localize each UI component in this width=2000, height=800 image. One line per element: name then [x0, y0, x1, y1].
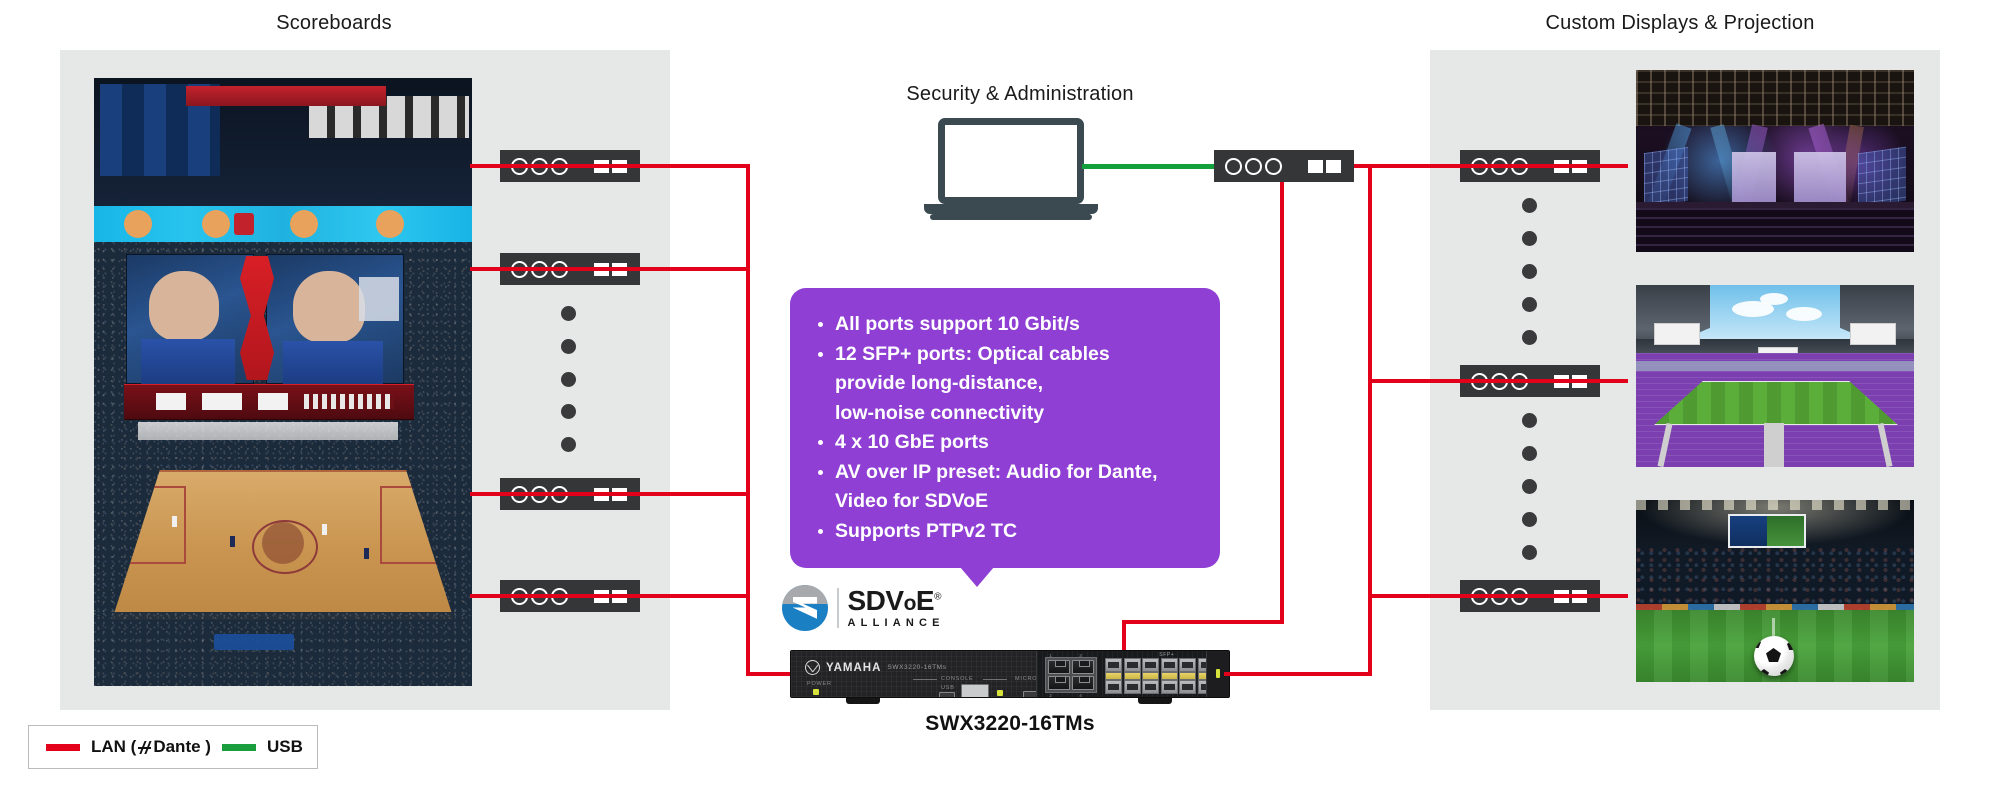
sfp-row-amber	[1105, 672, 1215, 680]
laptop-screen	[938, 118, 1084, 204]
cable-right-3	[1368, 594, 1628, 598]
node-circle-icon	[1245, 158, 1262, 175]
switch-foot	[846, 698, 880, 704]
switch-right-panel: 1 3 2 4 SFP+	[1036, 651, 1229, 697]
soccer-scoreboard	[1728, 514, 1806, 548]
center-node-usb[interactable]	[1214, 150, 1354, 182]
node-circles	[1225, 158, 1282, 175]
usb-label: USB	[941, 685, 955, 691]
feature-bullet: Supports PTPv2 TC	[816, 517, 1194, 547]
sfp-indicator	[1161, 672, 1178, 680]
cable-usb	[1082, 164, 1222, 169]
right-ellipsis-dot	[1522, 231, 1537, 246]
feature-bullet: 12 SFP+ ports: Optical cables provide lo…	[816, 340, 1194, 429]
sdvoe-alliance-logo: SDVoE® ALLIANCE	[782, 585, 945, 631]
right-ellipsis-dot	[1522, 297, 1537, 312]
switch-left-panel: YAMAHA SWX3220-16TMs POWER CONSOLE USB M…	[791, 651, 1036, 697]
cable-left-3	[470, 492, 750, 496]
yamaha-switch[interactable]: YAMAHA SWX3220-16TMs POWER CONSOLE USB M…	[790, 650, 1230, 698]
sdvoe-o: o	[904, 592, 916, 615]
sfp-row-bottom[interactable]	[1105, 680, 1215, 694]
yamaha-logo-icon	[805, 660, 820, 675]
legend: LAN ( Dante ) USB	[28, 725, 318, 769]
right-ellipsis-dot	[1522, 545, 1537, 560]
copper-10gbe-ports[interactable]	[1045, 657, 1097, 693]
sfp-port[interactable]	[1124, 658, 1141, 672]
left-ellipsis-dot	[561, 437, 576, 452]
sdvoe-subtitle: ALLIANCE	[848, 618, 945, 629]
feature-bullet: AV over IP preset: Audio for Dante, Vide…	[816, 458, 1194, 517]
sdvoe-name: SDV	[848, 585, 904, 616]
console-label: CONSOLE	[941, 676, 974, 682]
left-ellipsis-dot	[561, 404, 576, 419]
switch-foot	[1138, 698, 1172, 704]
cable-center-to-switch-h	[1122, 620, 1284, 624]
legend-swatch-usb	[222, 744, 256, 751]
diagram-canvas: Scoreboards Security & Administration Cu…	[0, 0, 2000, 800]
legend-lan-prefix: LAN (	[91, 737, 136, 757]
sfp-port[interactable]	[1161, 680, 1178, 694]
feature-bullet: 4 x 10 GbE ports	[816, 428, 1194, 458]
copper-port[interactable]	[1048, 660, 1070, 674]
cable-left-trunk	[746, 164, 750, 676]
usb-port[interactable]	[939, 692, 955, 698]
switch-label: SWX3220-16TMs	[790, 712, 1230, 736]
sfp-port[interactable]	[1142, 658, 1159, 672]
node-square-icon	[1308, 160, 1323, 173]
copper-port[interactable]	[1072, 660, 1094, 674]
sfp-port[interactable]	[1105, 658, 1122, 672]
sfp-row-top[interactable]	[1105, 658, 1215, 672]
left-ellipsis-dot	[561, 306, 576, 321]
node-square-icon	[1326, 160, 1341, 173]
right-ellipsis-dot	[1522, 446, 1537, 461]
sdvoe-wordmark: SDVoE® ALLIANCE	[848, 587, 945, 629]
left-ellipsis-dot	[561, 372, 576, 387]
cable-left-4	[470, 594, 750, 598]
cable-center-down	[1280, 182, 1284, 624]
feature-bullet: All ports support 10 Gbit/s	[816, 310, 1194, 340]
switch-model-silkscreen: SWX3220-16TMs	[887, 664, 946, 671]
right-ellipsis-dot	[1522, 198, 1537, 213]
power-led	[813, 689, 819, 695]
sfp-port[interactable]	[1105, 680, 1122, 694]
right-ellipsis-dot	[1522, 264, 1537, 279]
cable-right-2	[1368, 379, 1628, 383]
feature-list: All ports support 10 Gbit/s 12 SFP+ port…	[816, 310, 1194, 546]
yamaha-wordmark: YAMAHA	[826, 662, 881, 674]
soccer-photo	[1636, 500, 1914, 682]
heading-custom-displays: Custom Displays & Projection	[1360, 12, 2000, 35]
status-led	[997, 690, 1003, 696]
concert-stage-photo	[1636, 70, 1914, 252]
stadium-photo	[1636, 285, 1914, 467]
cable-right-trunk	[1368, 164, 1372, 598]
sfp-port[interactable]	[1142, 680, 1159, 694]
logo-divider	[837, 588, 839, 628]
laptop-base-lip	[930, 214, 1092, 220]
arena-scoreboard-photo	[94, 78, 472, 686]
cable-left-to-switch	[746, 672, 796, 676]
legend-label-lan: LAN ( Dante )	[91, 737, 211, 757]
sdvoe-mark-icon	[782, 585, 828, 631]
sdvoe-e: E	[916, 585, 934, 616]
sfp-indicator	[1105, 672, 1122, 680]
copper-port[interactable]	[1072, 676, 1094, 690]
node-squares	[1308, 160, 1341, 173]
feature-callout: All ports support 10 Gbit/s 12 SFP+ port…	[790, 288, 1220, 568]
soccer-ball	[1754, 636, 1794, 676]
sfp-port[interactable]	[1179, 658, 1196, 672]
right-ellipsis-dot	[1522, 413, 1537, 428]
right-ellipsis-dot	[1522, 330, 1537, 345]
sfp-indicator	[1179, 672, 1196, 680]
sfp-indicator	[1124, 672, 1141, 680]
copper-port[interactable]	[1048, 676, 1070, 690]
legend-label-usb: USB	[267, 737, 303, 757]
cable-right-to-switch-h	[1224, 672, 1372, 676]
node-circle-icon	[1225, 158, 1242, 175]
node-circle-icon	[1265, 158, 1282, 175]
cable-right-down-to-switch	[1368, 594, 1372, 676]
legend-swatch-lan	[46, 744, 80, 751]
right-ellipsis-dot	[1522, 512, 1537, 527]
callout-tail	[960, 567, 994, 587]
left-ellipsis-dot	[561, 339, 576, 354]
sfp-port[interactable]	[1161, 658, 1178, 672]
right-ellipsis-dot	[1522, 479, 1537, 494]
sfp-port[interactable]	[1124, 680, 1141, 694]
yamaha-branding: YAMAHA SWX3220-16TMs	[805, 660, 947, 675]
sfp-indicator	[1142, 672, 1159, 680]
heading-security-administration: Security & Administration	[770, 83, 1270, 106]
sfp-port[interactable]	[1179, 680, 1196, 694]
cable-left-1	[470, 164, 750, 168]
switch-tab-led	[1216, 669, 1220, 678]
cable-left-2	[470, 267, 750, 271]
cable-right-1	[1368, 164, 1628, 168]
dante-icon	[138, 740, 151, 755]
console-rj45-port[interactable]	[961, 684, 989, 698]
legend-usb-label: USB	[267, 737, 303, 757]
power-label: POWER	[807, 681, 832, 687]
legend-lan-suffix: Dante )	[153, 737, 211, 757]
laptop-base	[924, 204, 1098, 214]
registered-icon: ®	[934, 592, 941, 603]
heading-scoreboards: Scoreboards	[0, 12, 668, 35]
